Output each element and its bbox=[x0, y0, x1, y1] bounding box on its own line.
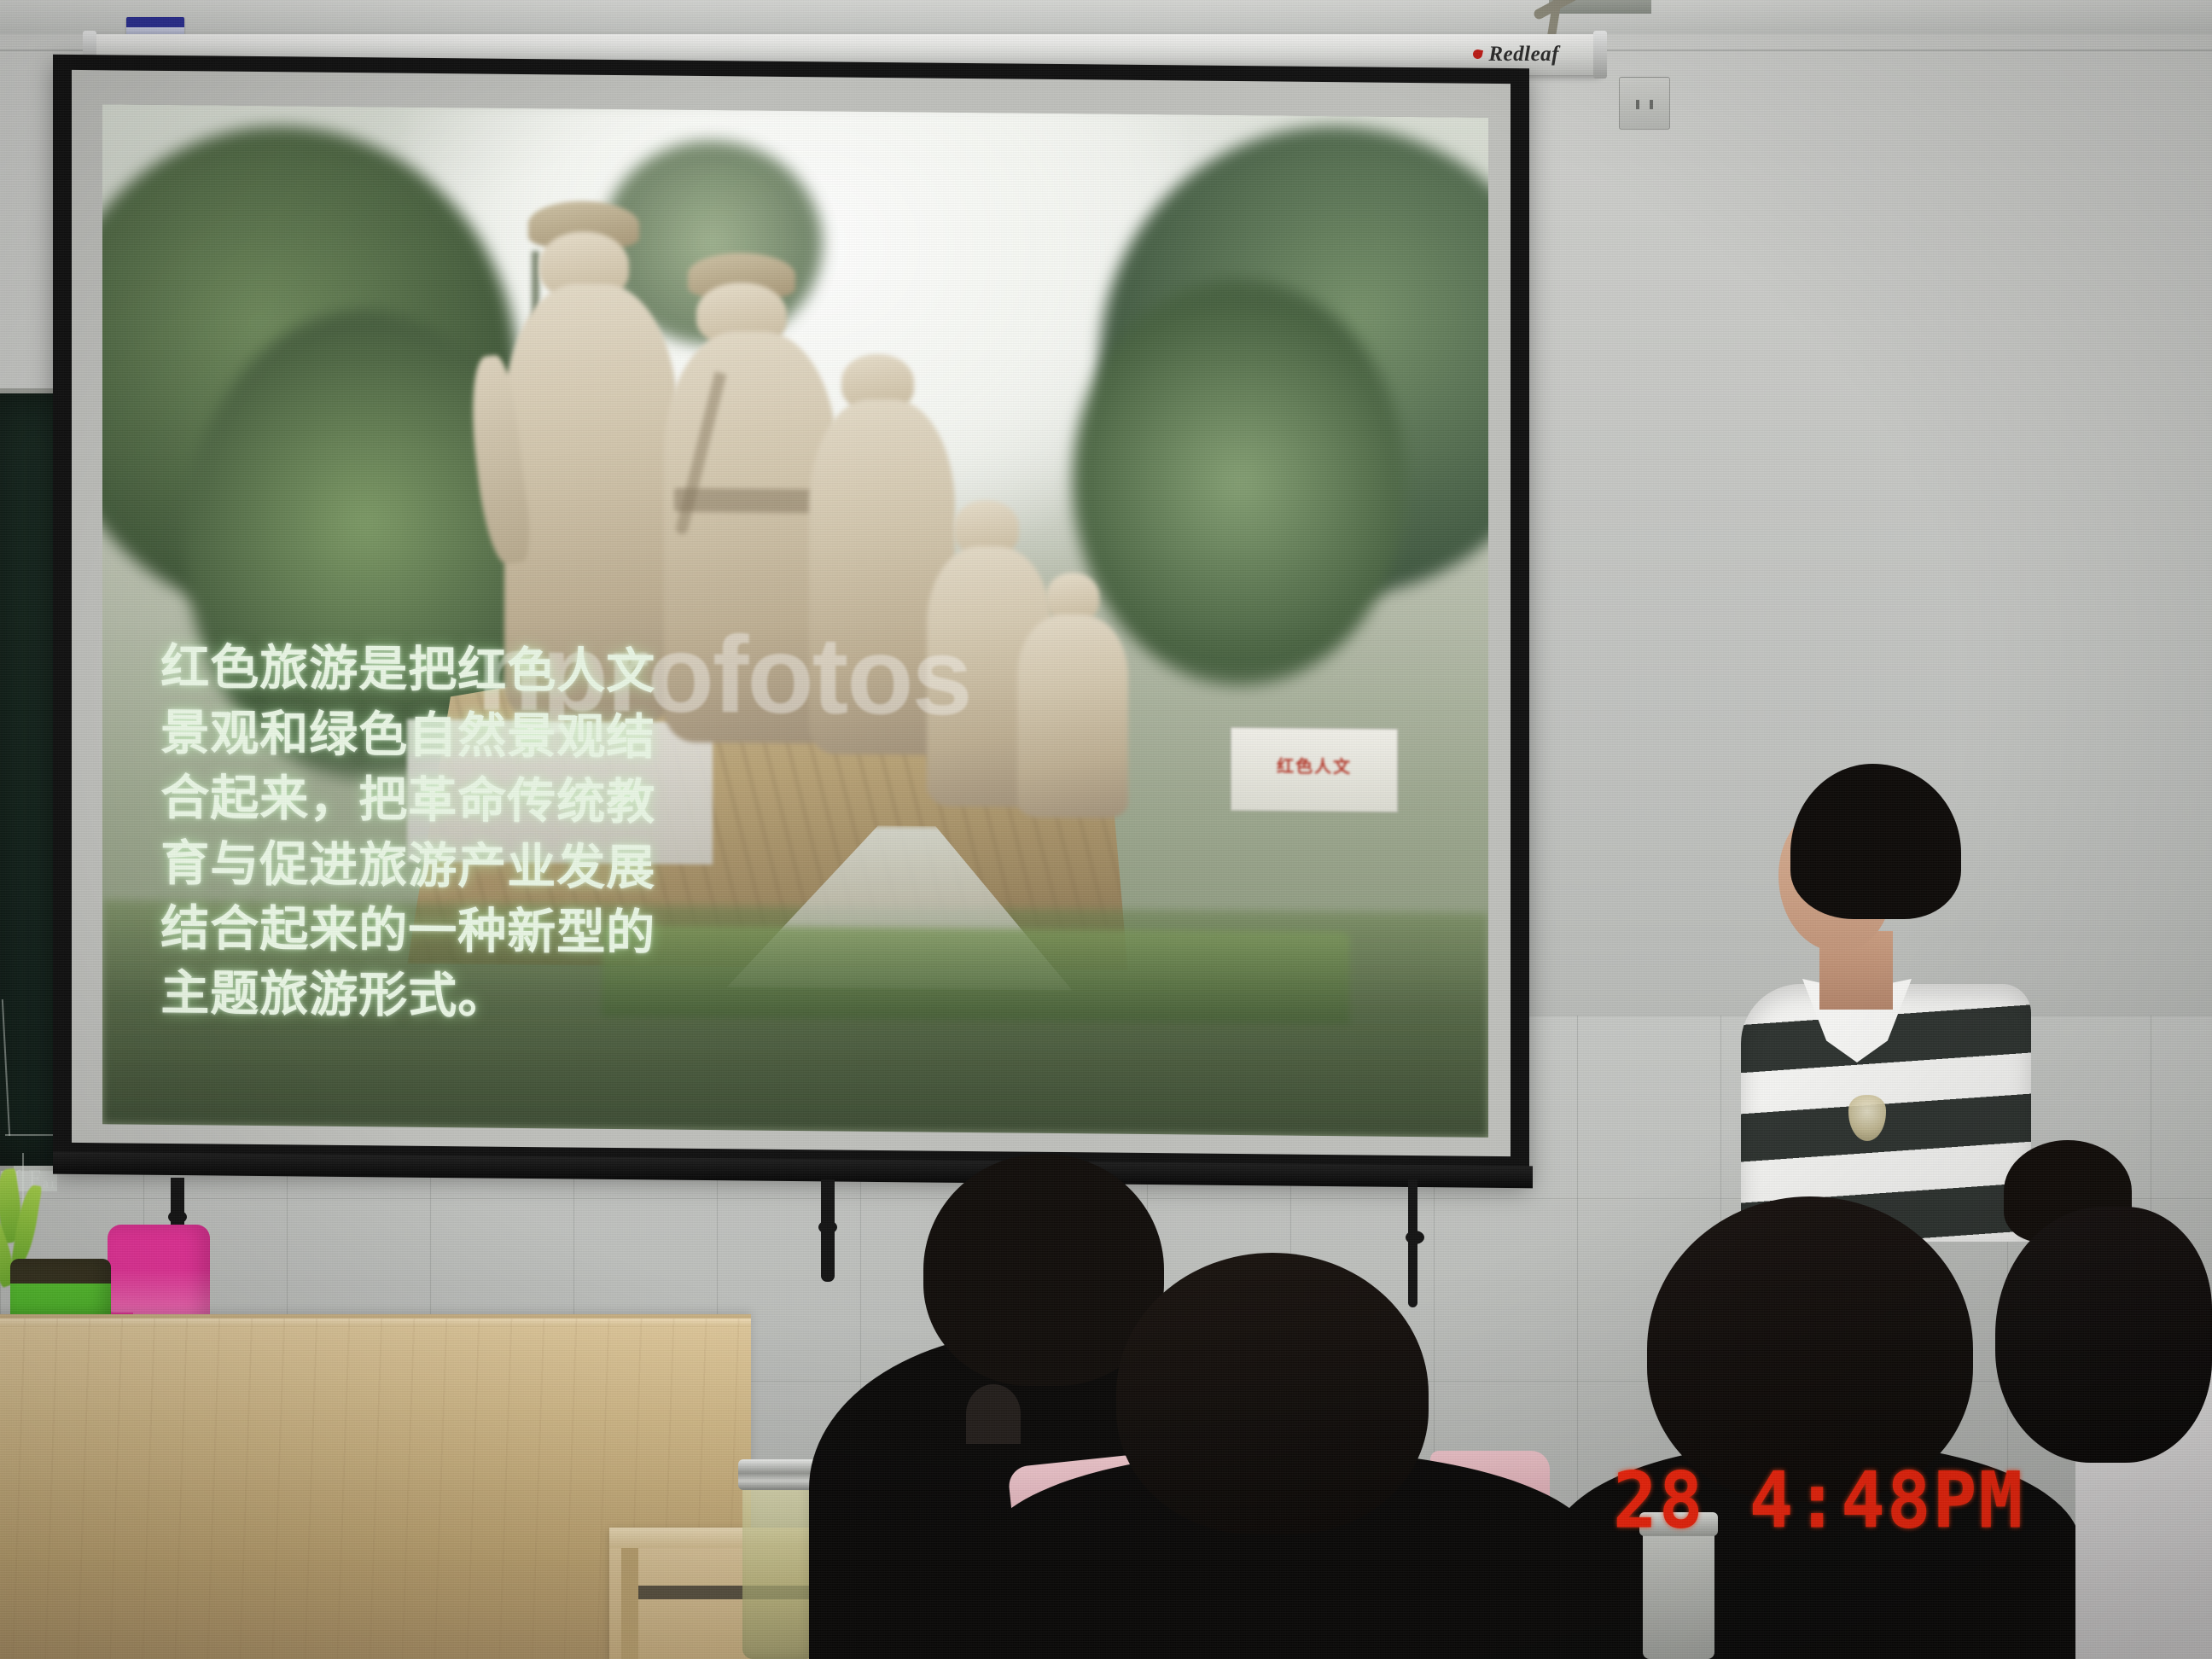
wall-socket-icon bbox=[1619, 77, 1670, 130]
statue-belt bbox=[674, 487, 827, 513]
strap-knot bbox=[1406, 1231, 1424, 1244]
roller-cap-right bbox=[1593, 31, 1607, 79]
tea-jar bbox=[742, 1478, 816, 1659]
camera-timestamp: 28 4:48PM bbox=[1613, 1462, 2024, 1540]
audience-collar bbox=[966, 1384, 1021, 1444]
slide-text-line: 景观和绿色自然景观结 bbox=[160, 701, 660, 771]
audience-head bbox=[1995, 1207, 2212, 1463]
screen-pull-strap[interactable] bbox=[821, 1179, 835, 1282]
slide-text-line: 结合起来的一种新型的 bbox=[160, 896, 660, 966]
slide-text-line: 合起来，把革命传统教 bbox=[160, 765, 660, 835]
slide-body-text: 红色旅游是把红色人文 景观和绿色自然景观结 合起来，把革命传统教 育与促进旅游产… bbox=[160, 635, 660, 1031]
screen-surface: 红色人文 nprofotos 红色旅游是把红色人文 景观和绿色自然景观结 合起来… bbox=[72, 70, 1511, 1156]
screen-brand-label: Redleaf bbox=[1488, 44, 1559, 65]
audience-head bbox=[1116, 1253, 1429, 1534]
wall-top-band bbox=[0, 0, 2212, 34]
strap-knot bbox=[818, 1220, 837, 1234]
screen-pull-strap[interactable] bbox=[1408, 1179, 1417, 1307]
chalk-mark bbox=[2, 999, 10, 1136]
leaf-icon bbox=[1472, 49, 1483, 60]
tea-jar bbox=[1643, 1528, 1714, 1659]
slide-text-line: 主题旅游形式。 bbox=[160, 961, 660, 1031]
presenter-person bbox=[1741, 764, 2031, 1242]
screen-brand: Redleaf bbox=[1473, 44, 1559, 65]
strap-knot bbox=[168, 1210, 187, 1224]
desk-leg bbox=[621, 1548, 638, 1659]
jar-lid bbox=[738, 1459, 820, 1490]
projected-slide: 红色人文 nprofotos 红色旅游是把红色人文 景观和绿色自然景观结 合起来… bbox=[102, 104, 1488, 1138]
photo-scene: A ∫ Fₐᵣ Redleaf bbox=[0, 0, 2212, 1659]
park-sign-text: 红色人文 bbox=[1231, 758, 1398, 777]
slide-text-line: 育与促进旅游产业发展 bbox=[160, 830, 660, 900]
park-sign: 红色人文 bbox=[1231, 727, 1399, 812]
timestamp-time: 4:48PM bbox=[1749, 1462, 2025, 1540]
projector-screen[interactable]: 红色人文 nprofotos 红色旅游是把红色人文 景观和绿色自然景观结 合起来… bbox=[53, 55, 1529, 1183]
hedge-row bbox=[602, 925, 1350, 1024]
hair bbox=[1790, 764, 1961, 919]
timestamp-day: 28 bbox=[1613, 1462, 1705, 1540]
slide-text-line: 红色旅游是把红色人文 bbox=[160, 635, 660, 705]
